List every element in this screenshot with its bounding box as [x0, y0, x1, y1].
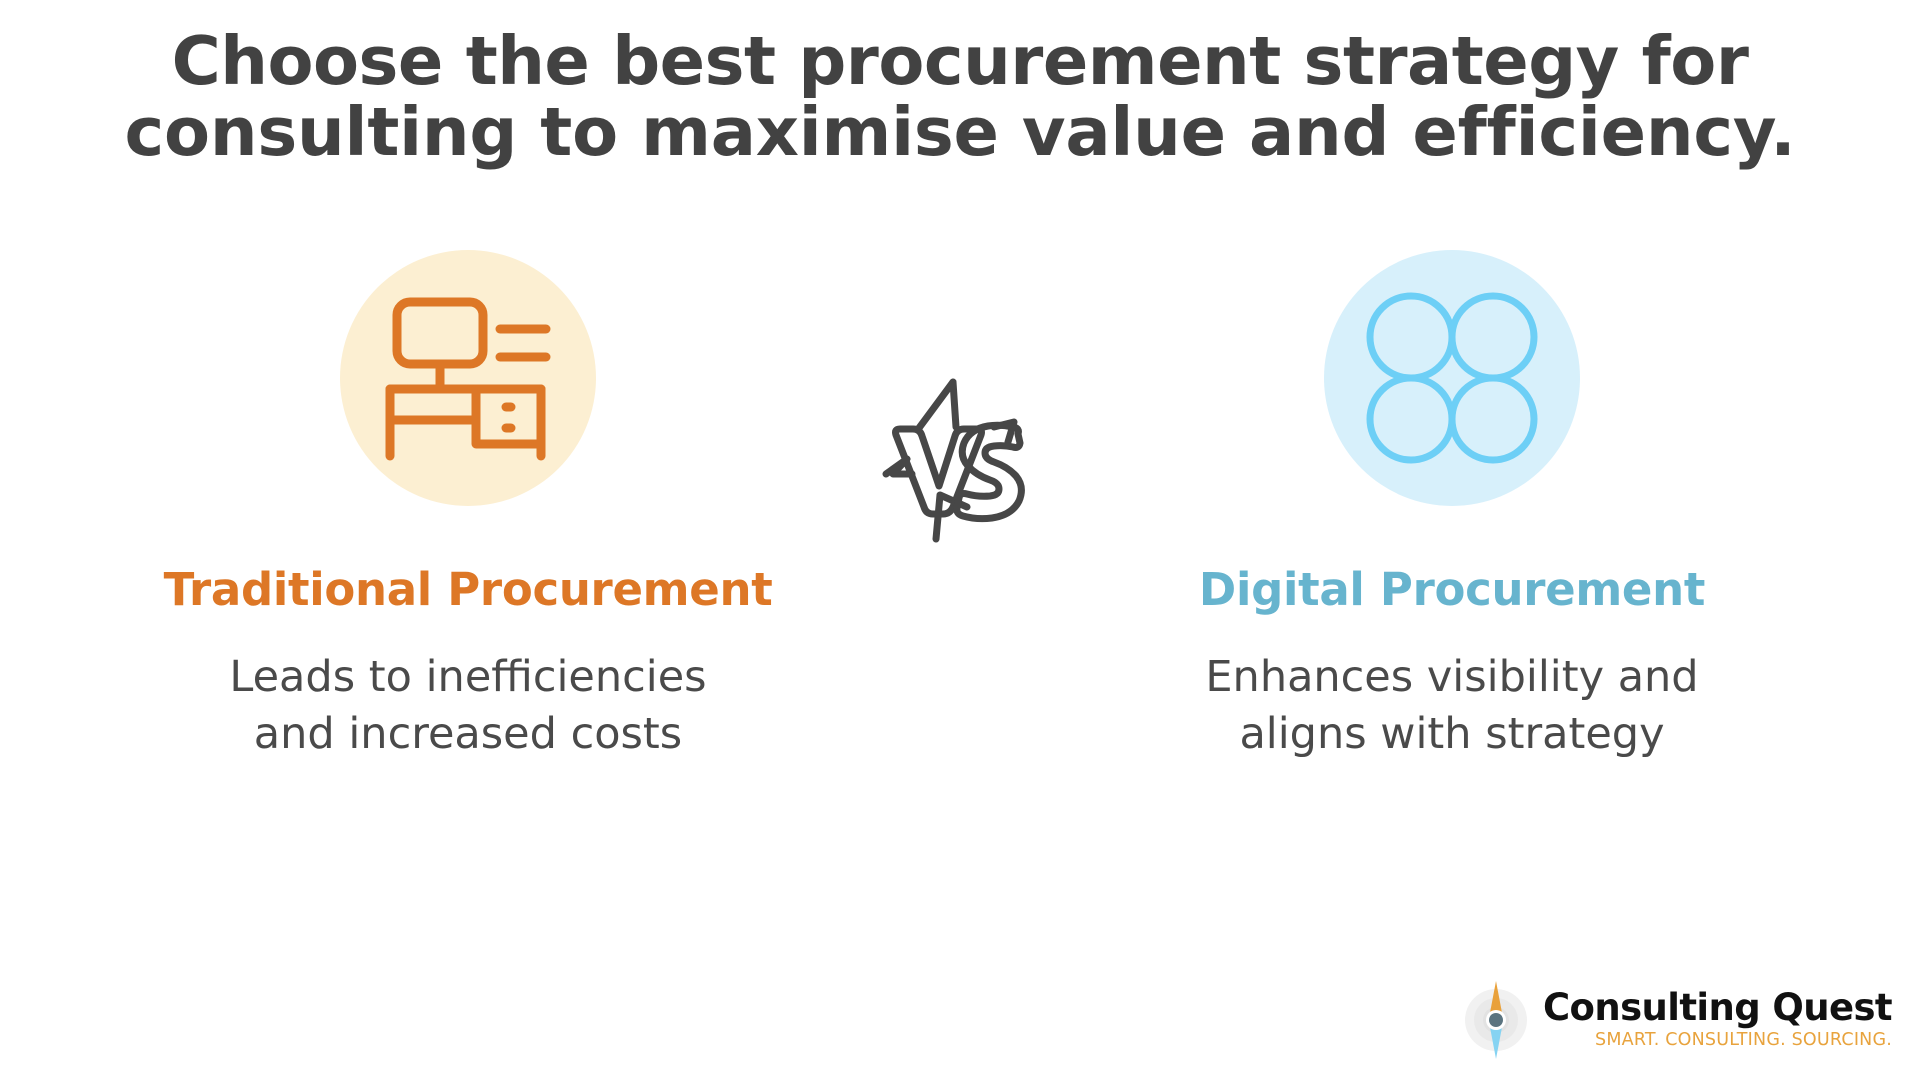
traditional-description-line-2: and increased costs — [88, 706, 848, 763]
comparison-card-digital: Digital Procurement Enhances visibility … — [1072, 250, 1832, 763]
brand-name: Consulting Quest — [1543, 989, 1892, 1028]
compass-needle-icon — [1463, 978, 1529, 1062]
digital-description: Enhances visibility and aligns with stra… — [1072, 649, 1832, 763]
brand-logo[interactable]: Consulting Quest SMART. CONSULTING. SOUR… — [1463, 978, 1892, 1062]
slide-canvas: Choose the best procurement strategy for… — [0, 0, 1920, 1080]
title-line-2: consulting to maximise value and efficie… — [80, 97, 1840, 168]
vs-burst-glyph — [860, 355, 1060, 555]
page-title: Choose the best procurement strategy for… — [80, 26, 1840, 168]
digital-description-line-1: Enhances visibility and — [1072, 649, 1832, 706]
desk-workstation-icon — [340, 250, 596, 506]
desk-workstation-glyph — [380, 294, 556, 462]
title-line-1: Choose the best procurement strategy for — [80, 26, 1840, 97]
traditional-heading: Traditional Procurement — [88, 567, 848, 612]
brand-logo-text: Consulting Quest SMART. CONSULTING. SOUR… — [1543, 989, 1892, 1052]
digital-description-line-2: aligns with strategy — [1072, 706, 1832, 763]
brand-tagline: SMART. CONSULTING. SOURCING. — [1543, 1030, 1892, 1051]
digital-heading: Digital Procurement — [1072, 567, 1832, 612]
traditional-description-line-1: Leads to inefficiencies — [88, 649, 848, 706]
traditional-description: Leads to inefficiencies and increased co… — [88, 649, 848, 763]
compass-needle-glyph — [1463, 978, 1529, 1062]
four-circles-grid-glyph — [1366, 292, 1538, 464]
vs-burst-icon — [860, 355, 1060, 555]
comparison-card-traditional: Traditional Procurement Leads to ineffic… — [88, 250, 848, 763]
four-circles-grid-icon — [1324, 250, 1580, 506]
